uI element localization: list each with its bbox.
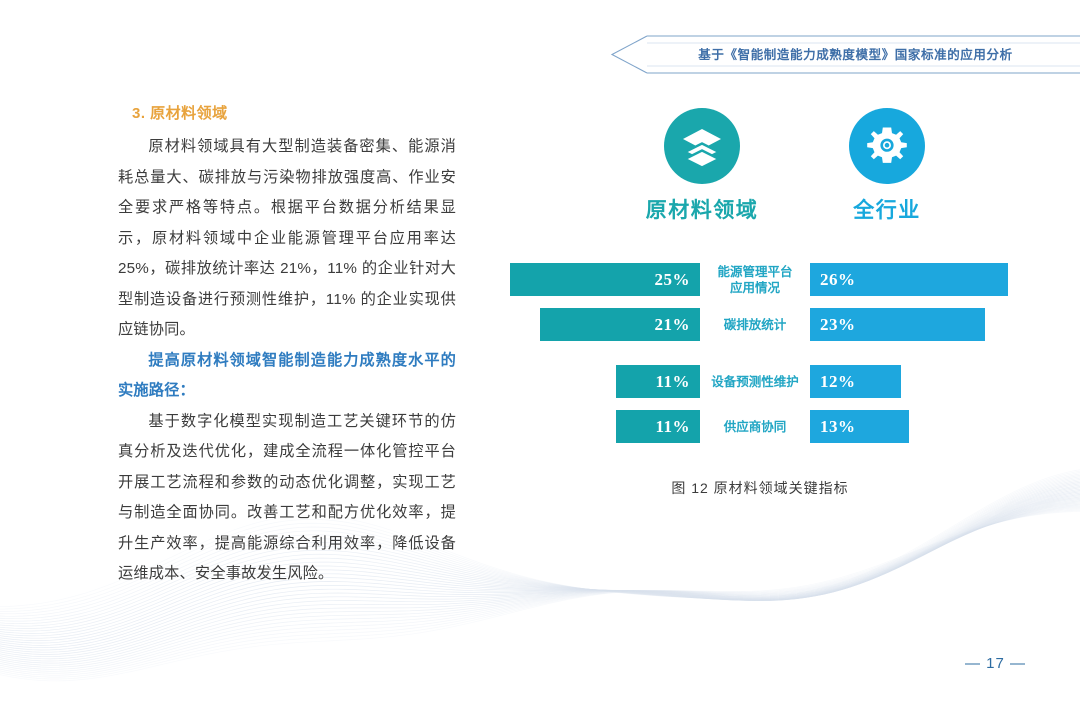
chart-bar-left-wrap: 11%	[495, 365, 700, 398]
chart-bar-right-wrap: 23%	[810, 308, 1025, 341]
legend-group-all-industry: 全行业	[797, 108, 977, 224]
chart-bar-value: 25%	[655, 270, 691, 290]
chart-bar-raw-materials: 11%	[616, 410, 700, 443]
section-heading: 3. 原材料领域	[132, 102, 456, 123]
chart-bar-raw-materials: 21%	[540, 308, 700, 341]
page-number: — 17 —	[965, 655, 1026, 672]
chart-category-label: 能源管理平台应用情况	[700, 264, 810, 296]
chart-bar-value: 11%	[655, 417, 690, 437]
infographic-figure: 原材料领域 全行业 25%能源管理平台应用情况26%21%碳排放统计23%11%…	[495, 108, 1025, 518]
chart-bar-value: 12%	[820, 372, 856, 392]
chart-bar-left-wrap: 25%	[495, 263, 700, 296]
chart-bar-value: 21%	[655, 315, 691, 335]
chart-bar-right-wrap: 13%	[810, 410, 1025, 443]
chart-row: 25%能源管理平台应用情况26%	[495, 263, 1025, 296]
chart-row: 11%设备预测性维护12%	[495, 365, 1025, 398]
legend-group-raw-materials: 原材料领域	[612, 108, 792, 224]
running-header: 基于《智能制造能力成熟度模型》国家标准的应用分析	[600, 33, 1080, 81]
gear-icon	[849, 108, 925, 184]
header-title: 基于《智能制造能力成熟度模型》国家标准的应用分析	[648, 44, 1063, 63]
chart-category-label: 供应商协同	[700, 419, 810, 435]
chart-bar-all-industry: 12%	[810, 365, 901, 398]
chart-bar-value: 26%	[820, 270, 856, 290]
diverging-bar-chart: 25%能源管理平台应用情况26%21%碳排放统计23%11%设备预测性维护12%…	[495, 263, 1025, 443]
legend-label-raw-materials: 原材料领域	[612, 194, 792, 224]
chart-bar-left-wrap: 21%	[495, 308, 700, 341]
chart-bar-raw-materials: 25%	[510, 263, 700, 296]
chart-bar-right-wrap: 12%	[810, 365, 1025, 398]
chart-category-label: 碳排放统计	[700, 317, 810, 333]
paragraph-1: 原材料领域具有大型制造装备密集、能源消耗总量大、碳排放与污染物排放强度高、作业安…	[118, 132, 456, 346]
paragraph-highlight: 提高原材料领域智能制造能力成熟度水平的实施路径：	[118, 346, 456, 407]
chart-bar-raw-materials: 11%	[616, 365, 700, 398]
chart-bar-all-industry: 13%	[810, 410, 909, 443]
chart-bar-left-wrap: 11%	[495, 410, 700, 443]
chart-category-label: 设备预测性维护	[700, 374, 810, 390]
chart-bar-value: 23%	[820, 315, 856, 335]
figure-caption: 图 12 原材料领域关键指标	[495, 478, 1025, 498]
chart-bar-all-industry: 26%	[810, 263, 1008, 296]
paragraph-2: 基于数字化模型实现制造工艺关键环节的仿真分析及迭代优化，建成全流程一体化管控平台…	[118, 407, 456, 590]
chart-bar-all-industry: 23%	[810, 308, 985, 341]
chart-bar-value: 13%	[820, 417, 856, 437]
chart-row: 11%供应商协同13%	[495, 410, 1025, 443]
chart-bar-right-wrap: 26%	[810, 263, 1025, 296]
legend-label-all-industry: 全行业	[797, 194, 977, 224]
chart-bar-value: 11%	[655, 372, 690, 392]
chart-row: 21%碳排放统计23%	[495, 308, 1025, 341]
layers-icon	[664, 108, 740, 184]
article-column: 3. 原材料领域 原材料领域具有大型制造装备密集、能源消耗总量大、碳排放与污染物…	[118, 102, 456, 590]
